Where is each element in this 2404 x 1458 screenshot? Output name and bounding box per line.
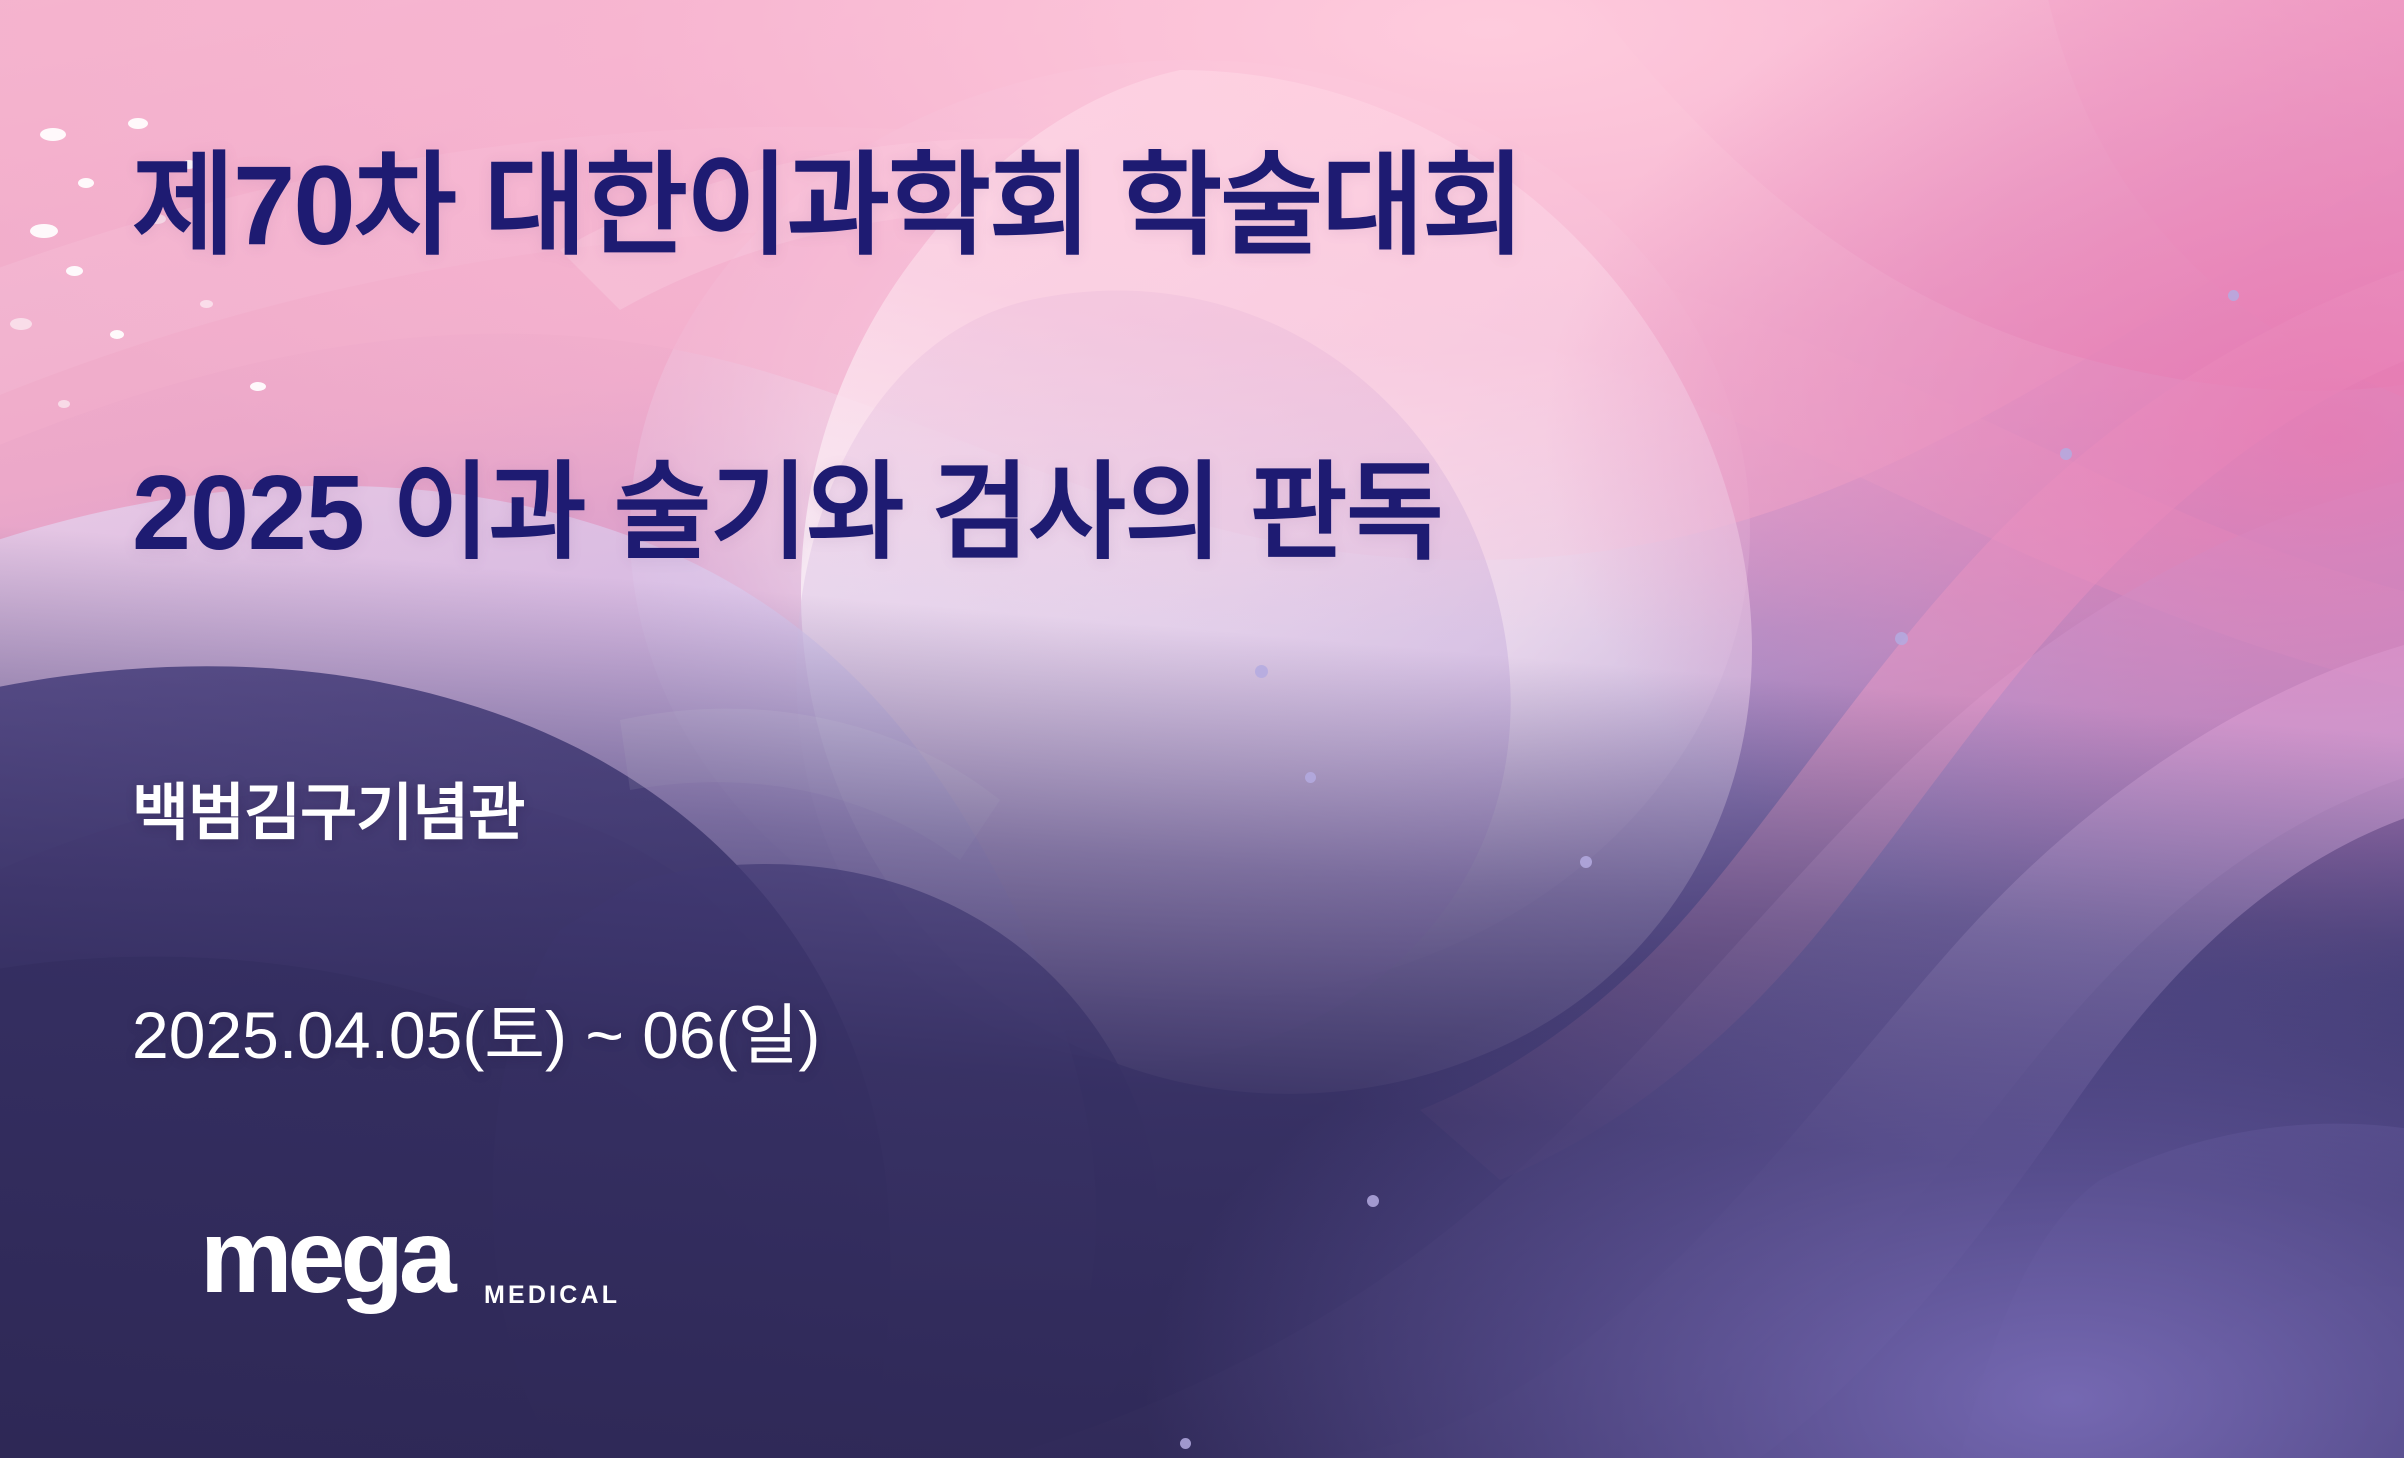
poster-content: 제70차 대한이과학회 학술대회 2025 이과 술기와 검사의 판독 백범김구…: [132, 0, 2312, 1458]
poster-venue: 백범김구기념관: [132, 762, 524, 852]
mega-medical-logo: mega MEDICAL: [132, 1205, 612, 1325]
poster-date: 2025.04.05(토) ~ 06(일): [132, 982, 820, 1078]
logo-subtext: MEDICAL: [484, 1283, 620, 1308]
poster-subtitle-line-2: 2025 이과 술기와 검사의 판독: [132, 460, 1443, 566]
conference-poster: 제70차 대한이과학회 학술대회 2025 이과 술기와 검사의 판독 백범김구…: [0, 0, 2404, 1458]
poster-title-line-1: 제70차 대한이과학회 학술대회: [132, 150, 1523, 262]
logo-wordmark: mega: [200, 1205, 452, 1309]
